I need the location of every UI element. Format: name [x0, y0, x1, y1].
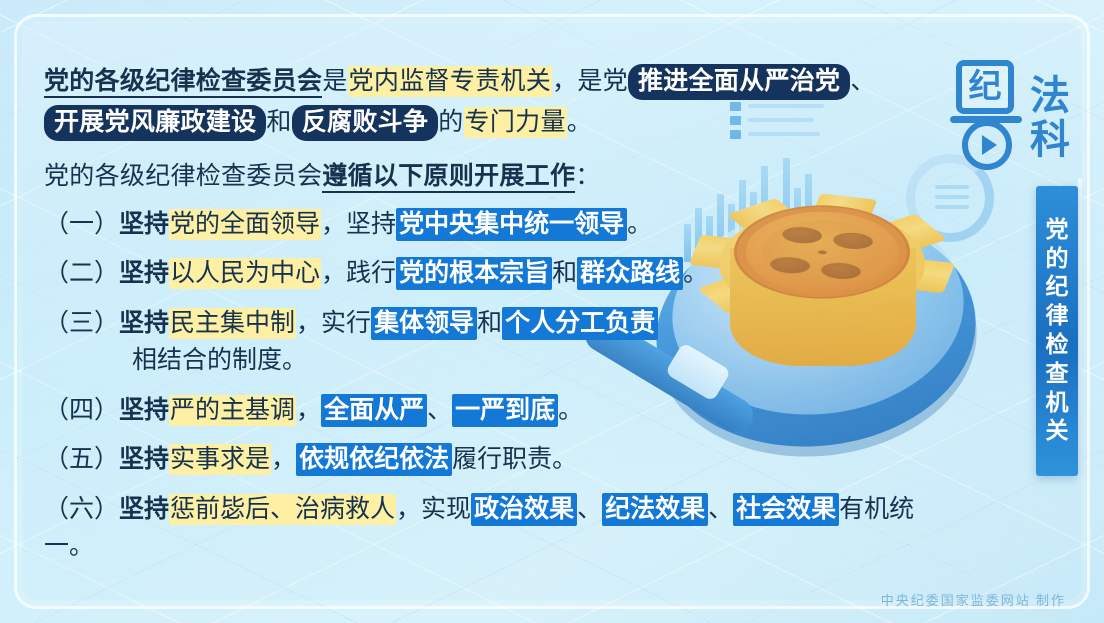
brand-logo[interactable]: 纪 法 科 — [948, 58, 1070, 174]
principle-part-yellow: 党的全面领导 — [169, 209, 321, 240]
principle-number: （四） — [44, 397, 119, 424]
logo-char-ji: 纪 — [956, 60, 1014, 114]
poster-root: 纪 法 科 党的纪律检查机关 党的各级纪律检查委员会是党内监督专责机关，是党推进… — [0, 0, 1104, 623]
principle-part-plain: 。 — [683, 260, 708, 287]
principle-part-plain: ，坚持 — [321, 211, 396, 238]
play-icon — [982, 135, 997, 155]
vertical-banner-edge — [1078, 178, 1082, 484]
vertical-banner-char-4: 检 — [1046, 333, 1069, 358]
principle-number: （二） — [44, 260, 119, 287]
vertical-banner-char-3: 律 — [1046, 304, 1069, 329]
lead-pill-2: 开展党风廉政建设 — [44, 105, 266, 141]
principle-item: （四）坚持严的主基调，全面从严、一严到底。 — [44, 392, 944, 430]
principle-part-plain: ，实行 — [296, 310, 371, 337]
principle-part-bold: 坚持 — [119, 496, 169, 523]
lead-paragraph: 党的各级纪律检查委员会是党内监督专责机关，是党推进全面从严治党、开展党风廉政建设… — [44, 62, 944, 143]
principle-part-bold: 坚持 — [119, 446, 169, 473]
principle-part-plain: 、 — [708, 496, 733, 523]
lead-highlight-1: 党内监督专责机关 — [348, 66, 552, 97]
principle-part-bold: 坚持 — [119, 211, 169, 238]
principle-part-blue: 政治效果 — [471, 493, 577, 526]
principle-part-blue: 个人分工负责 — [502, 307, 658, 340]
lead-text-6: 、 — [850, 68, 875, 95]
logo-char-bai — [962, 120, 1012, 170]
principle-part-plain: ，践行 — [321, 260, 396, 287]
principle-part-plain: 和 — [477, 310, 502, 337]
principle-part-blue: 党的根本宗旨 — [396, 257, 552, 290]
lead-text-2: 是 — [322, 68, 347, 95]
principle-part-blue: 全面从严 — [321, 394, 427, 427]
principle-part-yellow: 实事求是 — [169, 444, 271, 475]
principle-item: （六）坚持惩前毖后、治病救人，实现政治效果、纪法效果、社会效果有机统一。 — [44, 491, 944, 566]
intro-text-3: ： — [575, 163, 600, 190]
principle-item: （三）坚持民主集中制，实行集体领导和个人分工负责相结合的制度。 — [44, 305, 944, 380]
footer-credit: 中央纪委国家监委网站 制作 — [881, 590, 1066, 609]
principle-part-blue: 社会效果 — [733, 493, 839, 526]
principle-part-bold: 坚持 — [119, 310, 169, 337]
principle-part-plain: 。 — [627, 211, 652, 238]
principle-part-plain: ， — [296, 397, 321, 424]
lead-pill-1: 推进全面从严治党 — [628, 64, 850, 100]
principle-part-blue: 纪法效果 — [602, 493, 708, 526]
lead-text-4: ，是党 — [552, 68, 628, 95]
vertical-banner-char-0: 党 — [1046, 218, 1069, 243]
principle-item: （一）坚持党的全面领导，坚持党中央集中统一领导。 — [44, 206, 944, 244]
principle-part-blue: 群众路线 — [577, 257, 683, 290]
principle-part-blue: 一严到底 — [452, 394, 558, 427]
lead-pill-3: 反腐败斗争 — [292, 105, 439, 141]
principle-part-plain: 、 — [427, 397, 452, 424]
content-body: 党的各级纪律检查委员会是党内监督专责机关，是党推进全面从严治党、开展党风廉政建设… — [44, 62, 944, 578]
principles-list: （一）坚持党的全面领导，坚持党中央集中统一领导。（二）坚持以人民为中心，践行党的… — [44, 206, 944, 566]
intro-underline-phrase: 遵循以下原则开展工作 — [322, 163, 575, 193]
principle-number: （六） — [44, 496, 119, 523]
principle-part-blue: 党中央集中统一领导 — [396, 208, 627, 241]
principle-part-yellow: 民主集中制 — [169, 308, 296, 339]
principle-part-plain: ，实现 — [396, 496, 471, 523]
logo-char-fa: 法 — [1030, 76, 1070, 116]
principle-part-plain: ， — [271, 446, 296, 473]
vertical-banner-char-5: 查 — [1046, 362, 1069, 387]
principle-part-bold: 坚持 — [119, 260, 169, 287]
lead-text-12: 。 — [567, 109, 592, 136]
vertical-banner-char-1: 的 — [1046, 247, 1069, 272]
principle-part-yellow: 严的主基调 — [169, 395, 296, 426]
lead-highlight-2: 专门力量 — [464, 107, 567, 138]
principle-part-yellow: 惩前毖后、治病救人 — [169, 494, 396, 525]
lead-text-8: 和 — [266, 109, 291, 136]
principle-part-plain: 和 — [552, 260, 577, 287]
logo-char-ke: 科 — [1030, 120, 1070, 160]
principle-second-line: 相结合的制度。 — [132, 347, 307, 374]
principle-part-blue: 依规依纪依法 — [296, 443, 452, 476]
principle-part-plain: 、 — [577, 496, 602, 523]
principle-part-blue: 集体领导 — [371, 307, 477, 340]
principle-number: （一） — [44, 211, 119, 238]
vertical-banner: 党的纪律检查机关 — [1036, 186, 1078, 476]
principle-part-bold: 坚持 — [119, 397, 169, 424]
vertical-banner-char-6: 机 — [1046, 391, 1069, 416]
principle-part-plain: 履行职责。 — [452, 446, 577, 473]
principle-number: （五） — [44, 446, 119, 473]
principle-part-yellow: 以人民为中心 — [169, 258, 321, 289]
lead-text-10: 的 — [438, 109, 463, 136]
intro-text-1: 党的各级纪律检查委员会 — [44, 163, 322, 190]
principle-part-plain: 。 — [558, 397, 583, 424]
principle-number: （三） — [44, 310, 119, 337]
principle-item: （五）坚持实事求是，依规依纪依法履行职责。 — [44, 441, 944, 479]
lead-underline-phrase: 党的各级纪律检查委员会 — [44, 68, 322, 98]
vertical-banner-char-7: 关 — [1046, 419, 1069, 444]
vertical-banner-char-2: 纪 — [1046, 275, 1069, 300]
principle-item: （二）坚持以人民为中心，践行党的根本宗旨和群众路线。 — [44, 255, 944, 293]
intro-paragraph: 党的各级纪律检查委员会遵循以下原则开展工作： — [44, 157, 944, 198]
